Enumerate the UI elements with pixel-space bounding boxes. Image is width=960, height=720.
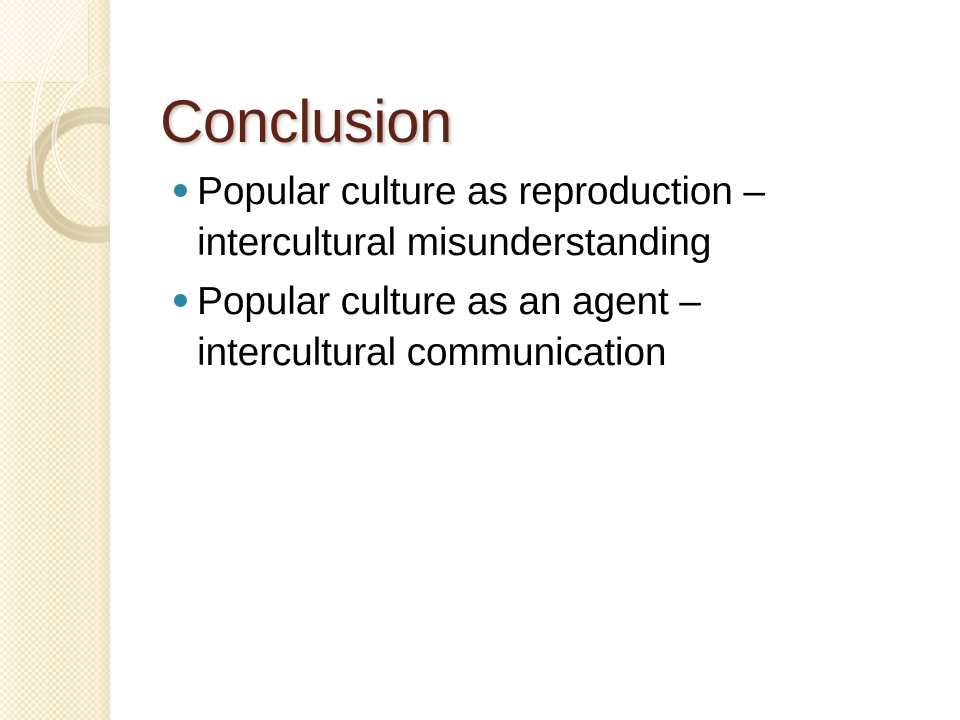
bullet-dot-icon: [174, 184, 187, 197]
bullet-item-text: Popular culture as an agent – intercultu…: [197, 276, 870, 378]
bullet-item-text: Popular culture as reproduction – interc…: [197, 166, 870, 268]
bullet-list-item: Popular culture as an agent – intercultu…: [170, 276, 870, 378]
presentation-slide: Conclusion Popular culture as reproducti…: [0, 0, 960, 720]
slide-body-content: Popular culture as reproduction – interc…: [170, 166, 870, 378]
sidebar-gradient-overlay: [0, 0, 110, 720]
bullet-dot-icon: [174, 294, 187, 307]
slide-decorative-sidebar: [0, 0, 110, 720]
bullet-list-item: Popular culture as reproduction – interc…: [170, 166, 870, 268]
slide-title: Conclusion: [160, 92, 900, 152]
